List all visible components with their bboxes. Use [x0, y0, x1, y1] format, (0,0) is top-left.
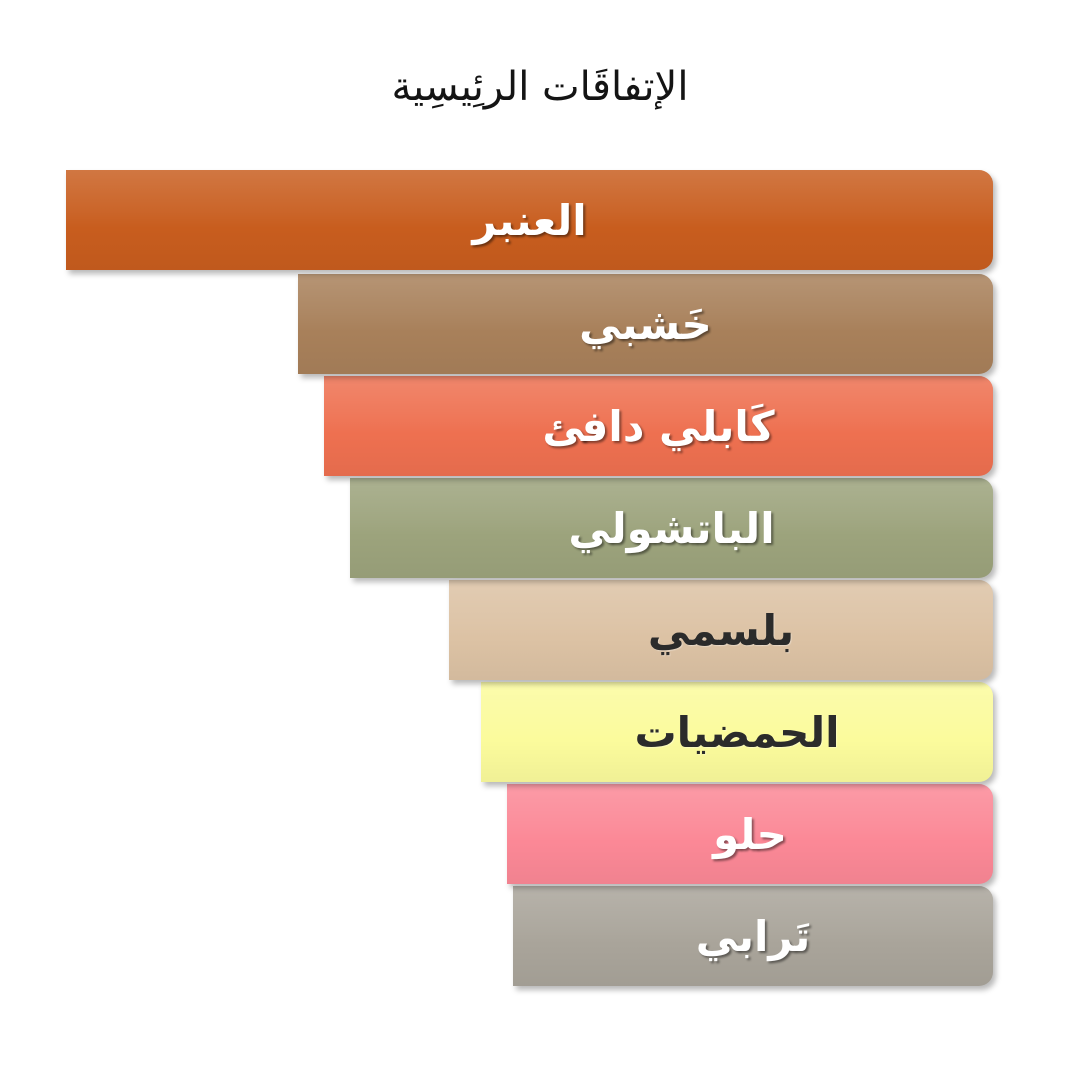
bar-row[interactable]: الباتشولي: [350, 478, 993, 578]
bar-label: حلو: [507, 784, 993, 884]
bar-row[interactable]: بلسمي: [449, 580, 993, 680]
bar-label: خَشبي: [298, 274, 993, 374]
bar-label: الباتشولي: [350, 478, 993, 578]
bar-label: العنبر: [66, 170, 993, 270]
bar-row[interactable]: العنبر: [66, 170, 993, 270]
bar-label: بلسمي: [449, 580, 993, 680]
bar-row[interactable]: حلو: [507, 784, 993, 884]
chart-root: الإتفاقَات الرئِيسِية العنبرخَشبيكَابلي …: [0, 0, 1080, 1080]
bar-label: تَرابي: [513, 886, 993, 986]
bar-row[interactable]: الحمضيات: [481, 682, 993, 782]
bar-row[interactable]: كَابلي دافئ: [324, 376, 993, 476]
bar-chart-plot-area: العنبرخَشبيكَابلي دافئالباتشوليبلسميالحم…: [0, 0, 1080, 1080]
bar-row[interactable]: خَشبي: [298, 274, 993, 374]
bar-label: الحمضيات: [481, 682, 993, 782]
bar-label: كَابلي دافئ: [324, 376, 993, 476]
bar-row[interactable]: تَرابي: [513, 886, 993, 986]
